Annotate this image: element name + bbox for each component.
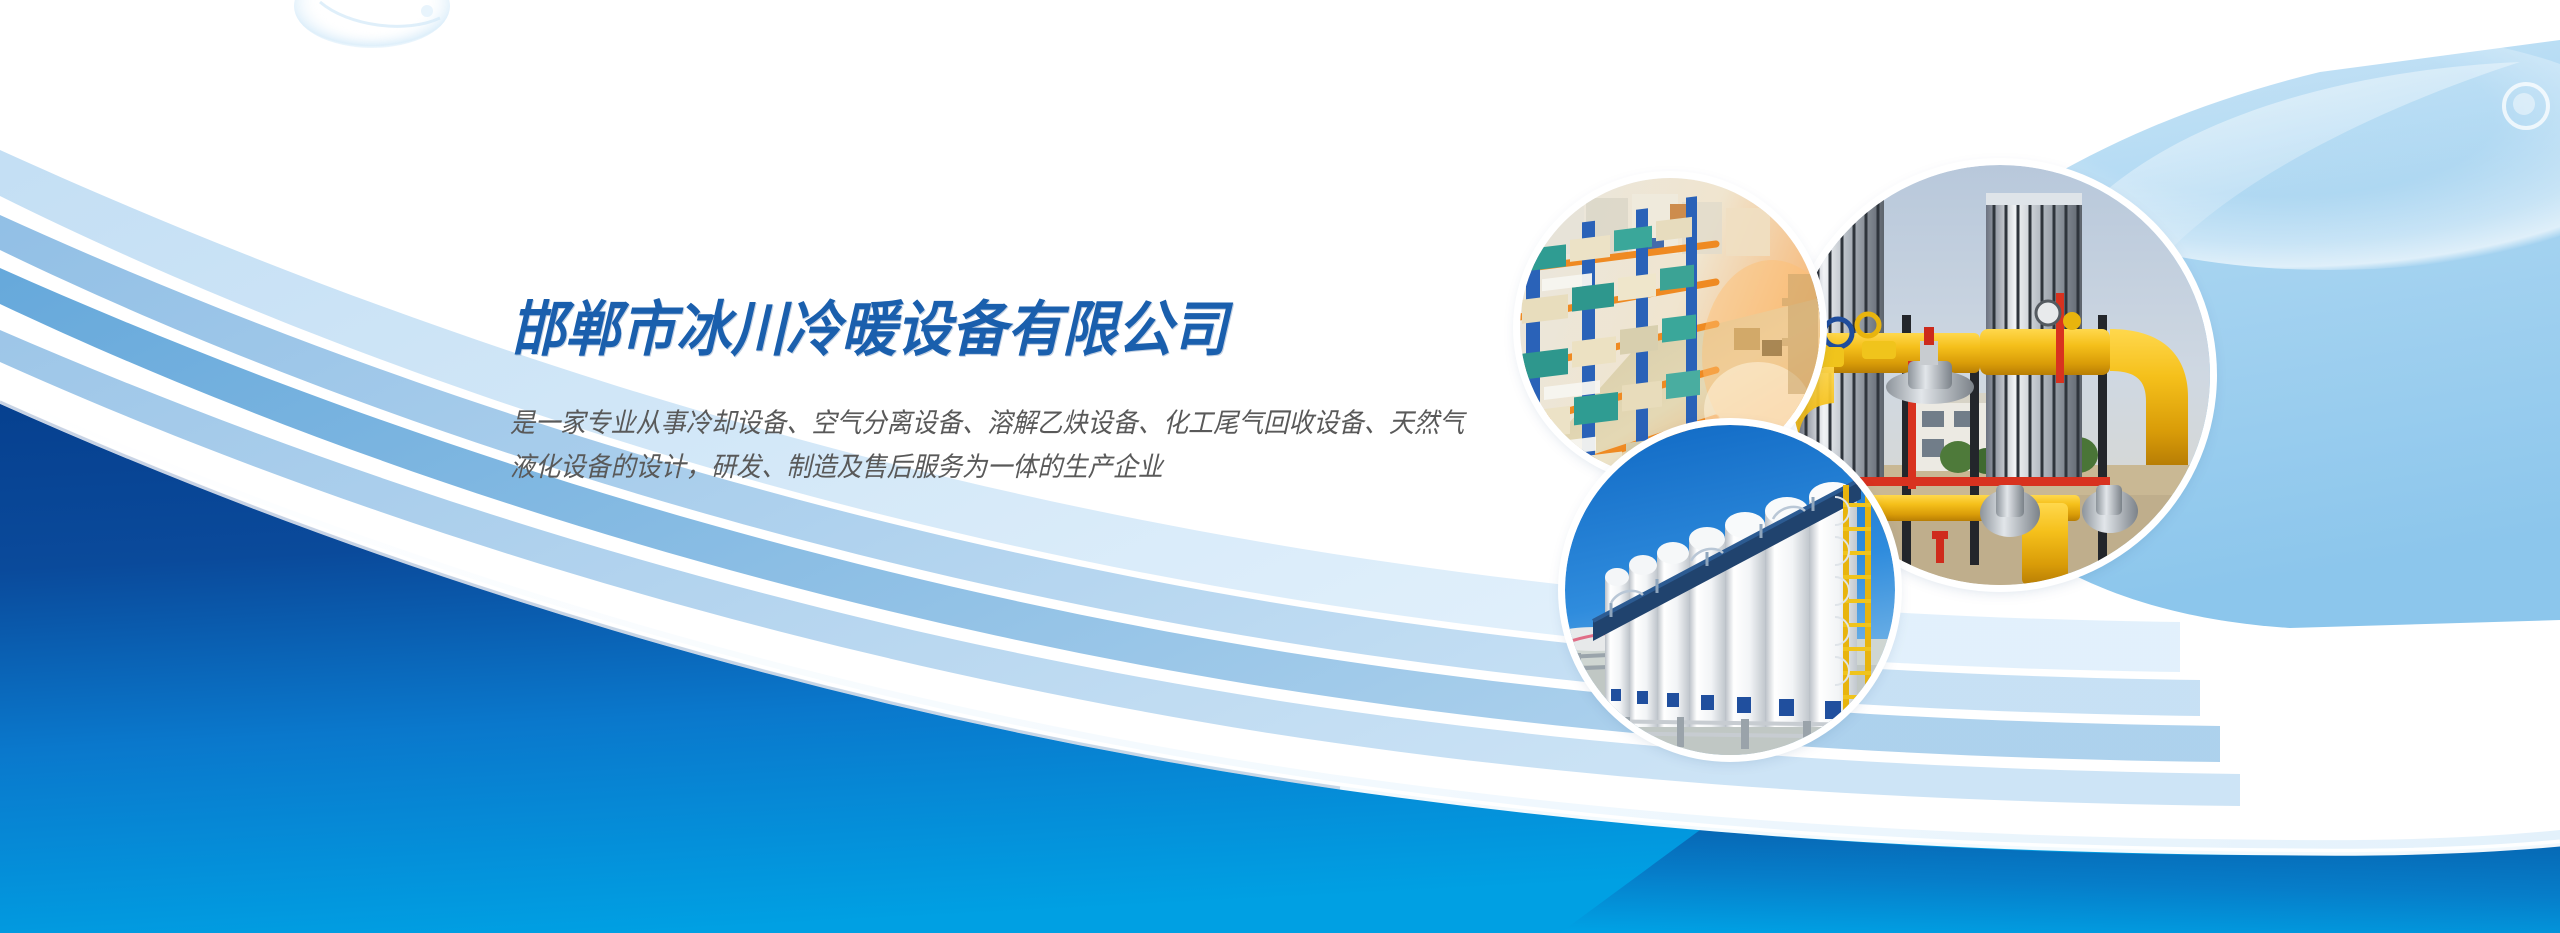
company-description: 是一家专业从事冷却设备、空气分离设备、溶解乙炔设备、化工尾气回收设备、天然气 液… (510, 402, 1449, 489)
description-line-2: 液化设备的设计，研发、制造及售后服务为一体的生产企业 (510, 446, 1449, 490)
description-line-1: 是一家专业从事冷却设备、空气分离设备、溶解乙炔设备、化工尾气回收设备、天然气 (510, 408, 1464, 438)
cryogenic-tank-photo (1565, 425, 1895, 755)
page-title: 邯郸市冰川冷暖设备有限公司 (510, 300, 1439, 360)
banner-text-block: 邯郸市冰川冷暖设备有限公司 是一家专业从事冷却设备、空气分离设备、溶解乙炔设备、… (510, 300, 1520, 489)
company-hero-banner: 邯郸市冰川冷暖设备有限公司 是一家专业从事冷却设备、空气分离设备、溶解乙炔设备、… (0, 0, 2560, 933)
